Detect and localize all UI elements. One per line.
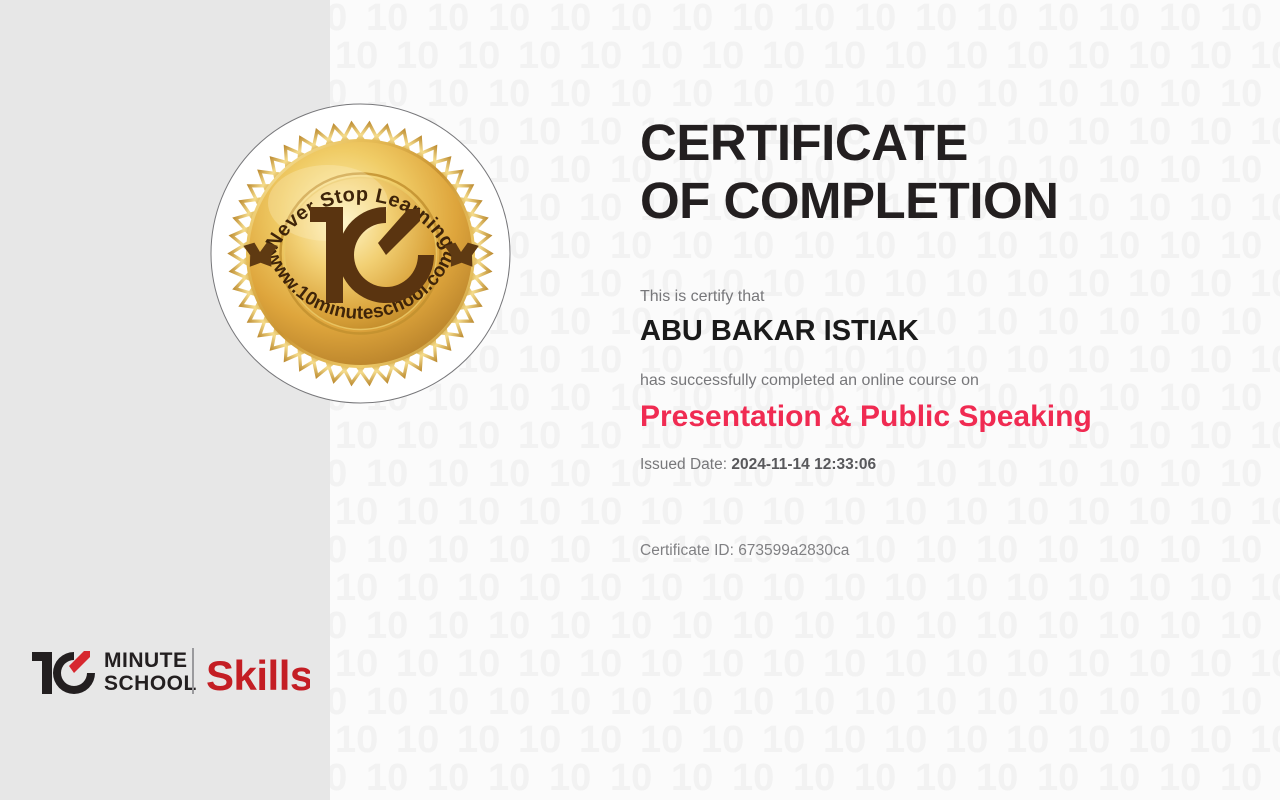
issued-date-label: Issued Date:: [640, 456, 727, 473]
10-minute-school-skills-logo: MINUTE SCHOOL Skills: [30, 640, 310, 702]
logo-name-line-2: SCHOOL: [104, 672, 197, 695]
issued-date-row: Issued Date: 2024-11-14 12:33:06: [640, 454, 876, 476]
certificate-id: Certificate ID: 673599a2830ca: [640, 540, 849, 561]
page-title-line-2: OF COMPLETION: [640, 172, 1058, 230]
certify-label: This is certify that: [640, 286, 764, 308]
page-title-line-1: CERTIFICATE: [640, 114, 968, 172]
course-name: Presentation & Public Speaking: [640, 396, 1092, 438]
logo-10-mark: [32, 651, 95, 694]
completion-label: has successfully completed an online cou…: [640, 370, 979, 392]
certificate-page: Never Stop Learning www.10minuteschool.c…: [0, 0, 1280, 800]
gold-award-seal-icon: Never Stop Learning www.10minuteschool.c…: [210, 103, 511, 404]
issued-date-value: 2024-11-14 12:33:06: [731, 456, 876, 473]
certificate-content: CERTIFICATE OF COMPLETION This is certif…: [640, 0, 1240, 800]
recipient-name: ABU BAKAR ISTIAK: [640, 312, 919, 350]
logo-name-line-1: MINUTE: [104, 649, 188, 672]
logo-sub-brand: Skills: [206, 652, 310, 699]
